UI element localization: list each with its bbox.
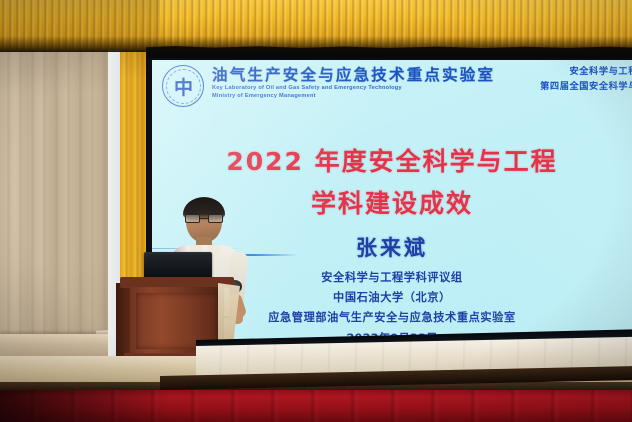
lab-name-english-line2: Ministry of Emergency Management <box>212 93 316 99</box>
speaker-glasses <box>185 214 223 223</box>
podium-laptop <box>144 252 212 280</box>
laptop-screen <box>146 254 210 276</box>
gold-pleated-valance <box>0 0 632 50</box>
glasses-bridge <box>200 218 208 219</box>
lab-name-english-line1: Key Laboratory of Oil and Gas Safety and… <box>212 85 402 91</box>
glasses-right-lens <box>208 214 223 223</box>
glasses-left-lens <box>185 214 200 223</box>
slide-title-line1: 2022 年度安全科学与工程 <box>152 142 632 178</box>
red-skirt-shading <box>0 390 170 422</box>
pilaster-shading <box>0 0 108 362</box>
emblem-monogram: 中 <box>162 65 204 107</box>
conference-title-line1: 安全科学与工程 <box>569 63 632 77</box>
slide-header: 中 油气生产安全与应急技术重点实验室 Key Laboratory of Oil… <box>152 60 632 112</box>
lab-name-chinese: 油气生产安全与应急技术重点实验室 <box>212 63 495 85</box>
conference-photo-scene: 中 油气生产安全与应急技术重点实验室 Key Laboratory of Oil… <box>0 0 632 422</box>
stone-pilaster <box>0 0 108 362</box>
conference-title-line2: 第四届全国安全科学与 <box>540 78 632 92</box>
oil-gas-safety-lab-emblem-icon: 中 <box>162 65 204 107</box>
